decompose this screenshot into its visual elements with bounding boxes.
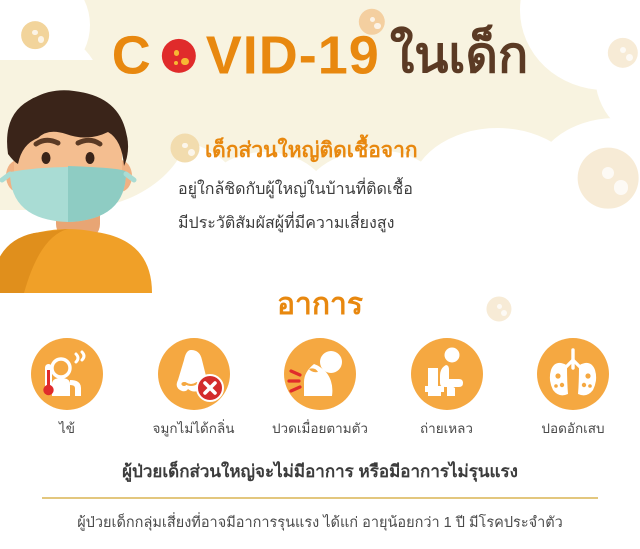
symptom-item-pneumonia: ปอดอักเสบ: [514, 338, 632, 439]
symptom-item-no-smell: จมูกไม่ได้กลิ่น: [135, 338, 253, 439]
symptom-label: ปอดอักเสบ: [514, 417, 632, 439]
symptom-item-fever: ไข้: [8, 338, 126, 439]
transmission-heading: เด็กส่วนใหญ่ติดเชื้อจาก: [205, 134, 418, 167]
symptom-label: ไข้: [8, 417, 126, 439]
toilet-diarrhea-icon: [411, 338, 483, 410]
symptom-label: ปวดเมื่อยตามตัว: [261, 417, 379, 439]
symptoms-row: ไข้ จมูกไม่ได้กลิ่น: [8, 338, 632, 439]
symptom-label: จมูกไม่ได้กลิ่น: [135, 417, 253, 439]
virus-icon: [153, 30, 205, 82]
symptom-item-body-ache: ปวดเมื่อยตามตัว: [261, 338, 379, 439]
title-c: C: [112, 26, 152, 86]
footer-note: ผู้ป่วยเด็กกลุ่มเสี่ยงที่อาจมีอาการรุนแร…: [20, 513, 620, 535]
divider: [42, 497, 598, 499]
virus-bullet-icon: [178, 177, 204, 203]
virus-bullet-icon: [178, 211, 204, 237]
body-ache-icon: [284, 338, 356, 410]
list-item-label: อยู่ใกล้ชิดกับผู้ใหญ่ในบ้านที่ติดเชื้อ: [178, 180, 413, 200]
symptoms-heading: อาการ: [0, 281, 640, 328]
footer-highlight: ผู้ป่วยเด็กส่วนใหญ่จะไม่มีอาการ หรือมีอา…: [0, 458, 640, 485]
title-vid19: VID-19: [206, 26, 380, 86]
page-title: CVID-19ในเด็ก: [0, 16, 640, 95]
fever-thermometer-icon: [31, 338, 103, 410]
lungs-pneumonia-icon: [537, 338, 609, 410]
boy-with-mask-illustration: [0, 88, 165, 293]
covid-children-infographic: CVID-19ในเด็ก เด็กส่วนใหญ่ติดเชื้อจาก อย…: [0, 0, 640, 549]
list-item: อยู่ใกล้ชิดกับผู้ใหญ่ในบ้านที่ติดเชื้อ: [178, 180, 598, 200]
transmission-list: อยู่ใกล้ชิดกับผู้ใหญ่ในบ้านที่ติดเชื้อ ม…: [178, 180, 598, 248]
symptom-item-diarrhea: ถ่ายเหลว: [388, 338, 506, 439]
list-item: มีประวัติสัมผัสผู้ที่มีความเสี่ยงสูง: [178, 214, 598, 234]
symptom-label: ถ่ายเหลว: [388, 417, 506, 439]
nose-no-smell-icon: [158, 338, 230, 410]
list-item-label: มีประวัติสัมผัสผู้ที่มีความเสี่ยงสูง: [178, 214, 394, 234]
title-thai-suffix: ในเด็ก: [390, 27, 528, 83]
boy-svg: [0, 88, 165, 293]
